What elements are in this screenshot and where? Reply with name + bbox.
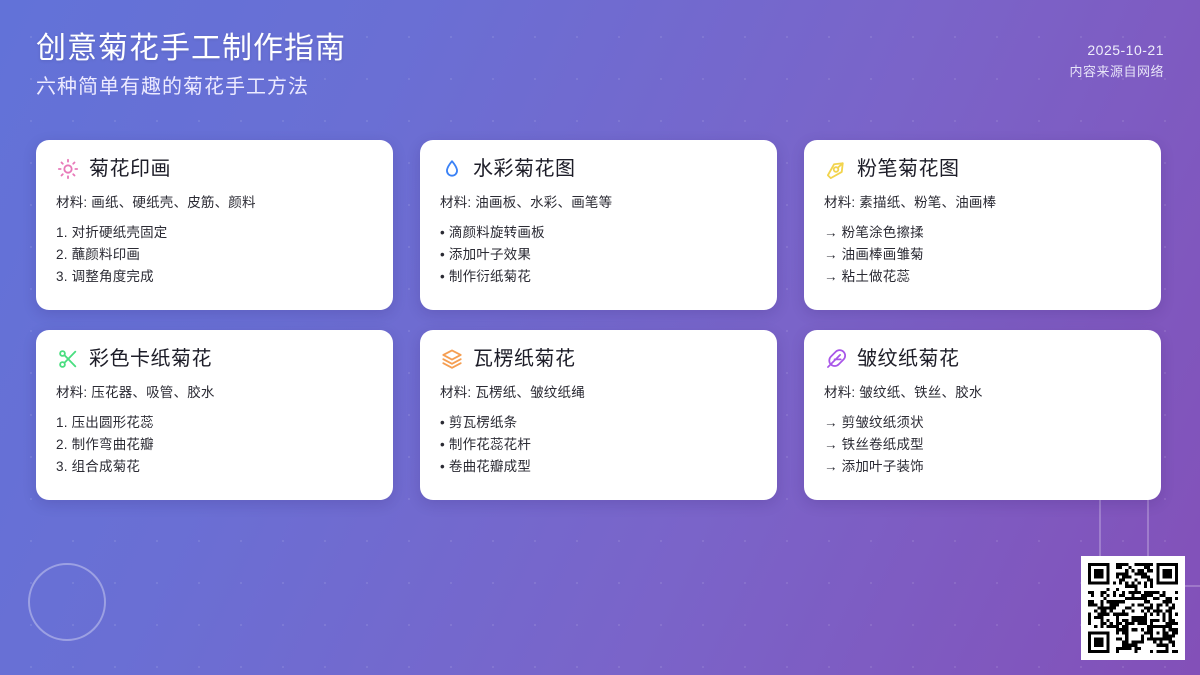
card-steps: • 剪瓦楞纸条 • 制作花蕊花杆 • 卷曲花瓣成型 [440, 412, 757, 478]
card-materials: 材料: 素描纸、粉笔、油画棒 [824, 194, 1141, 212]
card-step: 1. 对折硬纸壳固定 [56, 222, 373, 244]
card-step: • 添加叶子效果 [440, 244, 757, 266]
card-materials: 材料: 皱纹纸、铁丝、胶水 [824, 384, 1141, 402]
card-step: 1. 压出圆形花蕊 [56, 412, 373, 434]
feather-icon [824, 347, 848, 371]
card-materials: 材料: 画纸、硬纸壳、皮筋、颜料 [56, 194, 373, 212]
card-materials: 材料: 瓦楞纸、皱纹纸绳 [440, 384, 757, 402]
page-title: 创意菊花手工制作指南 [36, 30, 346, 68]
card-steps: 1. 压出圆形花蕊 2. 制作弯曲花瓣 3. 组合成菊花 [56, 412, 373, 478]
card-step: • 滴颜料旋转画板 [440, 222, 757, 244]
layers-icon [440, 347, 464, 371]
card-step: → 粘土做花蕊 [824, 266, 1141, 288]
card-title: 皱纹纸菊花 [857, 348, 960, 370]
card-materials: 材料: 压花器、吸管、胶水 [56, 384, 373, 402]
decorative-circle [28, 563, 106, 641]
card-step: • 制作衍纸菊花 [440, 266, 757, 288]
card-title: 瓦楞纸菊花 [473, 348, 576, 370]
droplet-icon [440, 157, 464, 181]
pen-nib-icon [824, 157, 848, 181]
sun-icon [56, 157, 80, 181]
page-subtitle: 六种简单有趣的菊花手工方法 [36, 74, 346, 100]
slide-header: 创意菊花手工制作指南 六种简单有趣的菊花手工方法 2025-10-21 内容来源… [0, 0, 1200, 100]
method-card[interactable]: 水彩菊花图 材料: 油画板、水彩、画笔等 • 滴颜料旋转画板 • 添加叶子效果 … [420, 140, 777, 310]
card-step: → 油画棒画雏菊 [824, 244, 1141, 266]
card-step: → 铁丝卷纸成型 [824, 434, 1141, 456]
card-title: 水彩菊花图 [473, 158, 576, 180]
card-header: 菊花印画 [56, 157, 373, 181]
card-steps: 1. 对折硬纸壳固定 2. 蘸颜料印画 3. 调整角度完成 [56, 222, 373, 288]
card-step: 2. 制作弯曲花瓣 [56, 434, 373, 456]
card-title: 菊花印画 [89, 158, 171, 180]
card-step: 3. 组合成菊花 [56, 456, 373, 478]
card-step: → 剪皱纹纸须状 [824, 412, 1141, 434]
card-step: 3. 调整角度完成 [56, 266, 373, 288]
header-source: 内容来源自网络 [1069, 61, 1164, 83]
cards-grid: 菊花印画 材料: 画纸、硬纸壳、皮筋、颜料 1. 对折硬纸壳固定 2. 蘸颜料印… [36, 140, 1164, 500]
card-materials: 材料: 油画板、水彩、画笔等 [440, 194, 757, 212]
header-meta: 2025-10-21 内容来源自网络 [1069, 30, 1164, 83]
card-steps: • 滴颜料旋转画板 • 添加叶子效果 • 制作衍纸菊花 [440, 222, 757, 288]
title-block: 创意菊花手工制作指南 六种简单有趣的菊花手工方法 [36, 30, 346, 100]
method-card[interactable]: 粉笔菊花图 材料: 素描纸、粉笔、油画棒 → 粉笔涂色擦揉 → 油画棒画雏菊 →… [804, 140, 1161, 310]
card-header: 皱纹纸菊花 [824, 347, 1141, 371]
card-steps: → 粉笔涂色擦揉 → 油画棒画雏菊 → 粘土做花蕊 [824, 222, 1141, 288]
scissors-icon [56, 347, 80, 371]
card-header: 水彩菊花图 [440, 157, 757, 181]
card-header: 瓦楞纸菊花 [440, 347, 757, 371]
card-step: • 制作花蕊花杆 [440, 434, 757, 456]
card-title: 彩色卡纸菊花 [89, 348, 212, 370]
qr-code[interactable] [1081, 556, 1185, 660]
method-card[interactable]: 菊花印画 材料: 画纸、硬纸壳、皮筋、颜料 1. 对折硬纸壳固定 2. 蘸颜料印… [36, 140, 393, 310]
card-title: 粉笔菊花图 [857, 158, 960, 180]
card-header: 彩色卡纸菊花 [56, 347, 373, 371]
card-step: • 卷曲花瓣成型 [440, 456, 757, 478]
card-header: 粉笔菊花图 [824, 157, 1141, 181]
method-card[interactable]: 皱纹纸菊花 材料: 皱纹纸、铁丝、胶水 → 剪皱纹纸须状 → 铁丝卷纸成型 → … [804, 330, 1161, 500]
card-step: → 粉笔涂色擦揉 [824, 222, 1141, 244]
card-step: → 添加叶子装饰 [824, 456, 1141, 478]
method-card[interactable]: 瓦楞纸菊花 材料: 瓦楞纸、皱纹纸绳 • 剪瓦楞纸条 • 制作花蕊花杆 • 卷曲… [420, 330, 777, 500]
method-card[interactable]: 彩色卡纸菊花 材料: 压花器、吸管、胶水 1. 压出圆形花蕊 2. 制作弯曲花瓣… [36, 330, 393, 500]
card-steps: → 剪皱纹纸须状 → 铁丝卷纸成型 → 添加叶子装饰 [824, 412, 1141, 478]
header-date: 2025-10-21 [1069, 40, 1164, 61]
slide-canvas: 创意菊花手工制作指南 六种简单有趣的菊花手工方法 2025-10-21 内容来源… [0, 0, 1200, 675]
card-step: • 剪瓦楞纸条 [440, 412, 757, 434]
card-step: 2. 蘸颜料印画 [56, 244, 373, 266]
